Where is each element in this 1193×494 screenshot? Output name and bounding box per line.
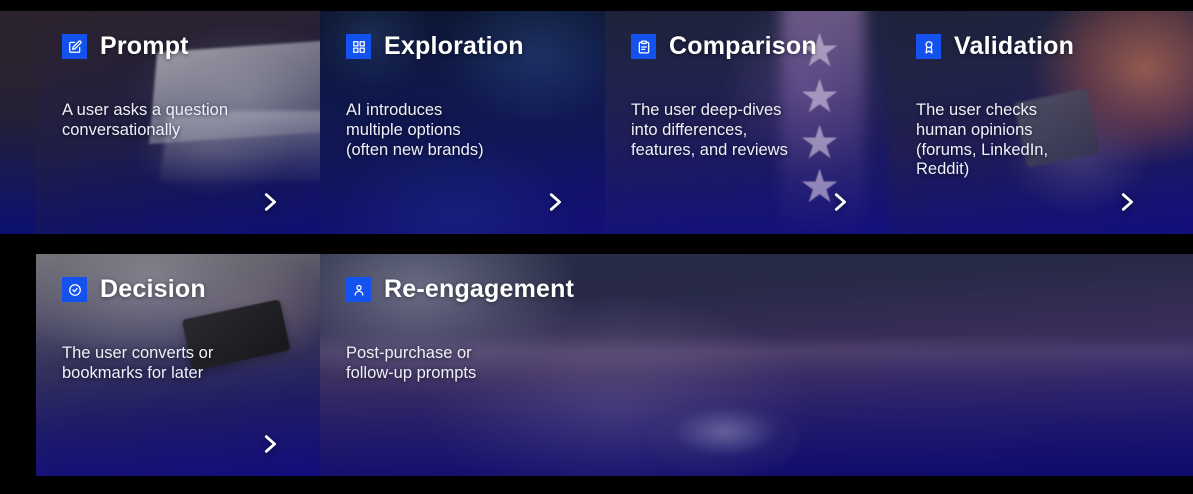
card-title: Re-engagement [384,277,574,302]
card-description: Post-purchase or follow-up prompts [346,344,596,384]
edit-square-icon [62,34,87,59]
card-description: AI introduces multiple options (often ne… [346,101,579,160]
chevron-right-icon[interactable] [259,189,281,215]
card-title: Comparison [669,34,817,59]
user-person-icon [346,277,371,302]
card-title: Decision [100,277,206,302]
card-header: Decision [62,277,294,302]
journey-row-top: Prompt A user asks a question conversati… [0,11,1193,234]
clock-check-icon [62,277,87,302]
chevron-right-icon[interactable] [259,431,281,457]
card-header: Comparison [631,34,864,59]
journey-row-bottom: Decision The user converts or bookmarks … [0,254,1193,476]
award-badge-icon [916,34,941,59]
card-description: The user converts or bookmarks for later [62,344,294,384]
journey-card-prompt[interactable]: Prompt A user asks a question conversati… [36,11,320,234]
clipboard-list-icon [631,34,656,59]
card-header: Re-engagement [346,277,1167,302]
chevron-right-icon[interactable] [1116,189,1138,215]
card-title: Prompt [100,34,189,59]
journey-card-validation[interactable]: Validation The user checks human opinion… [890,11,1193,234]
journey-card-comparison[interactable]: ★ ★ ★ ★ Comparison The user deep-dives [605,11,890,234]
card-partial-left [0,11,36,234]
apps-grid-icon [346,34,371,59]
card-title: Validation [954,34,1074,59]
card-background [0,11,36,234]
card-description: A user asks a question conversationally [62,101,294,141]
card-header: Validation [916,34,1167,59]
card-description: The user deep-dives into differences, fe… [631,101,864,160]
card-header: Exploration [346,34,579,59]
card-description: The user checks human opinions (forums, … [916,101,1166,180]
card-header: Prompt [62,34,294,59]
chevron-right-icon[interactable] [829,189,851,215]
ai-journey-stage: Prompt A user asks a question conversati… [0,0,1193,494]
journey-card-decision[interactable]: Decision The user converts or bookmarks … [36,254,320,476]
journey-card-exploration[interactable]: Exploration AI introduces multiple optio… [320,11,605,234]
journey-card-reengagement[interactable]: Re-engagement Post-purchase or follow-up… [320,254,1193,476]
card-partial-left-2 [0,254,36,476]
chevron-right-icon[interactable] [544,189,566,215]
card-title: Exploration [384,34,524,59]
